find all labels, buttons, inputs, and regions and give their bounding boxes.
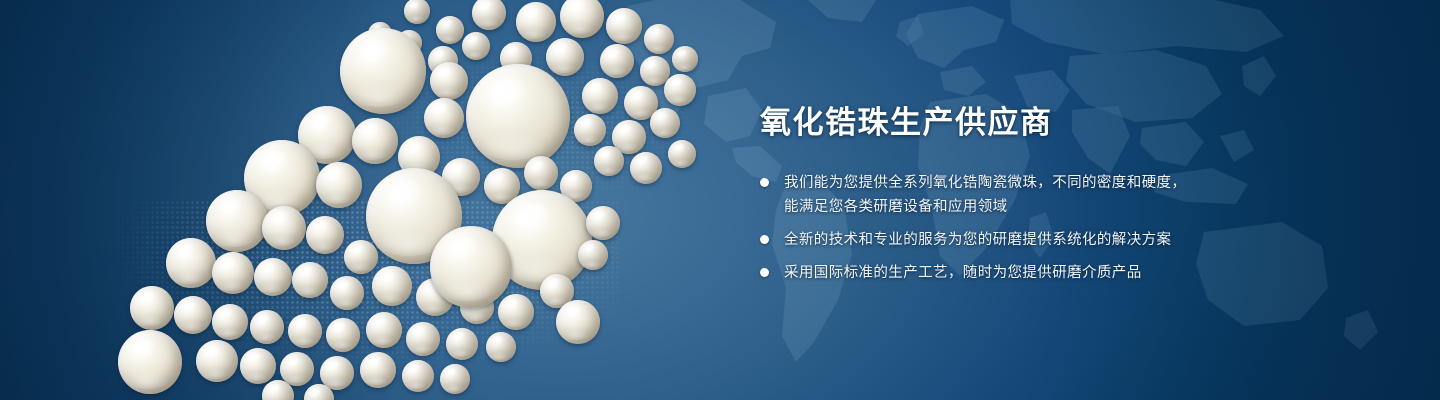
bullet-dot-icon [760,235,769,244]
bullet-dot-icon [760,178,769,187]
banner-copy: 氧化锆珠生产供应商 我们能为您提供全系列氧化锆陶瓷微珠，不同的密度和硬度， 能满… [760,104,1360,294]
feature-bullet-list: 我们能为您提供全系列氧化锆陶瓷微珠，不同的密度和硬度， 能满足您各类研磨设备和应… [760,171,1360,285]
list-item: 采用国际标准的生产工艺，随时为您提供研磨介质产品 [760,261,1360,285]
bullet-line-1: 我们能为您提供全系列氧化锆陶瓷微珠，不同的密度和硬度， [784,175,1186,191]
bullet-dot-icon [760,268,769,277]
bullet-line-1: 全新的技术和专业的服务为您的研磨提供系统化的解决方案 [784,232,1171,248]
bullet-text: 全新的技术和专业的服务为您的研磨提供系统化的解决方案 [784,228,1171,252]
zirconia-beads-photo [0,0,760,400]
bullet-line-2: 能满足您各类研磨设备和应用领域 [784,195,1186,219]
list-item: 全新的技术和专业的服务为您的研磨提供系统化的解决方案 [760,228,1360,252]
bullet-text: 我们能为您提供全系列氧化锆陶瓷微珠，不同的密度和硬度， 能满足您各类研磨设备和应… [784,171,1186,219]
bullet-text: 采用国际标准的生产工艺，随时为您提供研磨介质产品 [784,261,1142,285]
hero-banner: 氧化锆珠生产供应商 我们能为您提供全系列氧化锆陶瓷微珠，不同的密度和硬度， 能满… [0,0,1440,400]
page-title: 氧化锆珠生产供应商 [760,104,1360,141]
bullet-line-1: 采用国际标准的生产工艺，随时为您提供研磨介质产品 [784,265,1142,281]
list-item: 我们能为您提供全系列氧化锆陶瓷微珠，不同的密度和硬度， 能满足您各类研磨设备和应… [760,171,1360,219]
